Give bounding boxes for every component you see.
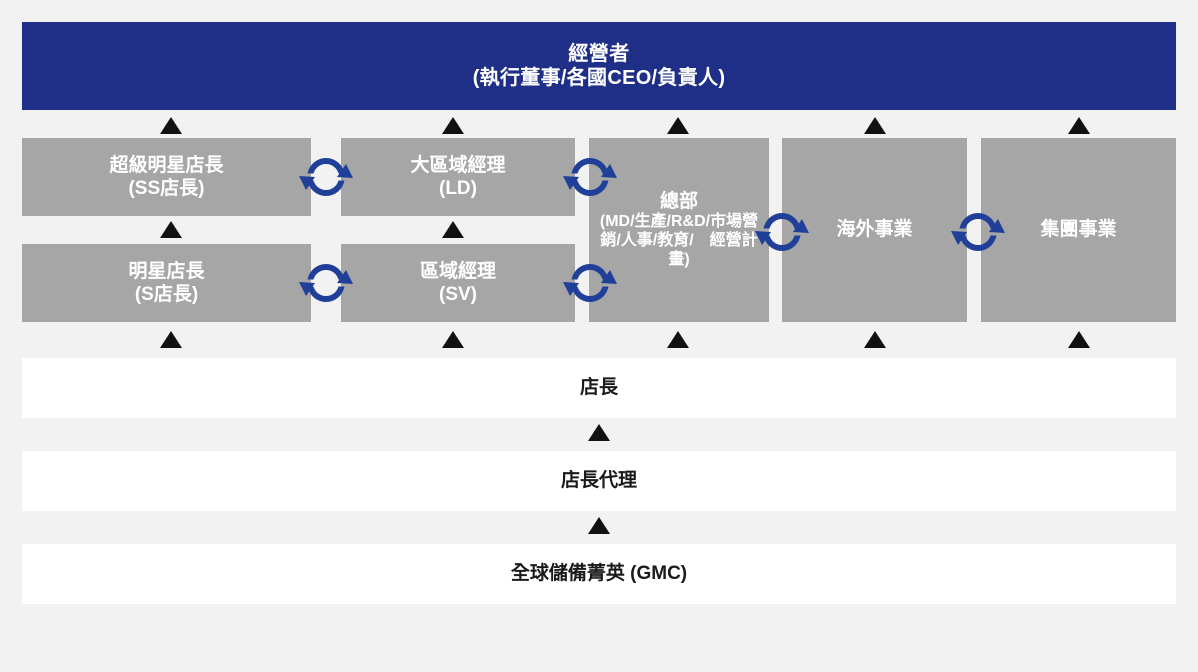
executive-title: 經營者 <box>568 42 630 66</box>
cycle-arrows-icon-hq-overseas[interactable] <box>755 205 809 259</box>
cycle-arrows-icon-overseas-group[interactable] <box>951 205 1005 259</box>
role-title-headquarters: 總部 <box>660 190 698 213</box>
role-code-ss-store-manager: (SS店長) <box>128 177 204 200</box>
up-triangle-icon-gmc-to-deputy <box>588 517 610 534</box>
role-code-district-manager: (SV) <box>439 283 477 306</box>
base-row-deputy-store-manager[interactable]: 店長代理 <box>22 451 1176 511</box>
role-box-s-store-manager[interactable]: 明星店長 (S店長) <box>22 244 311 322</box>
role-title-group-business: 集團事業 <box>1040 218 1116 241</box>
cycle-arrows-icon-ss-ld[interactable] <box>299 150 353 204</box>
base-row-label-deputy-store-manager: 店長代理 <box>561 469 637 492</box>
role-box-district-manager[interactable]: 區域經理 (SV) <box>341 244 575 322</box>
role-box-ss-store-manager[interactable]: 超級明星店長 (SS店長) <box>22 138 311 216</box>
role-title-large-district-manager: 大區域經理 <box>410 154 505 177</box>
up-triangle-icon-store-to-sv <box>442 331 464 348</box>
role-box-large-district-manager[interactable]: 大區域經理 (LD) <box>341 138 575 216</box>
role-title-overseas-business: 海外事業 <box>836 218 912 241</box>
up-triangle-icon-exec-to-ld <box>442 117 464 134</box>
base-row-store-manager[interactable]: 店長 <box>22 358 1176 418</box>
up-triangle-icon-exec-to-ss <box>160 117 182 134</box>
up-triangle-icon-deputy-to-store <box>588 424 610 441</box>
up-triangle-icon-store-to-hq <box>667 331 689 348</box>
up-triangle-icon-exec-to-hq <box>667 117 689 134</box>
org-chart-diagram: 經營者 (執行董事/各國CEO/負責人) 超級明星店長 (SS店長) 大區域經理… <box>0 0 1198 672</box>
cycle-arrows-icon-ld-hq[interactable] <box>563 150 617 204</box>
up-triangle-icon-s-to-ss <box>160 221 182 238</box>
up-triangle-icon-sv-to-ld <box>442 221 464 238</box>
role-code-large-district-manager: (LD) <box>439 177 477 200</box>
executive-subtitle: (執行董事/各國CEO/負責人) <box>473 66 726 90</box>
base-row-label-global-management-candidate: 全球儲備菁英 (GMC) <box>511 562 687 585</box>
executive-banner[interactable]: 經營者 (執行董事/各國CEO/負責人) <box>22 22 1176 110</box>
up-triangle-icon-exec-to-group <box>1068 117 1090 134</box>
cycle-arrows-icon-s-sv[interactable] <box>299 256 353 310</box>
role-title-ss-store-manager: 超級明星店長 <box>109 154 223 177</box>
cycle-arrows-icon-sv-hq[interactable] <box>563 256 617 310</box>
base-row-label-store-manager: 店長 <box>580 376 618 399</box>
role-box-group-business[interactable]: 集團事業 <box>981 138 1176 322</box>
up-triangle-icon-exec-to-overseas <box>864 117 886 134</box>
up-triangle-icon-store-to-overseas <box>864 331 886 348</box>
role-title-s-store-manager: 明星店長 <box>128 260 204 283</box>
role-box-overseas-business[interactable]: 海外事業 <box>782 138 967 322</box>
up-triangle-icon-store-to-group <box>1068 331 1090 348</box>
up-triangle-icon-store-to-s <box>160 331 182 348</box>
role-title-district-manager: 區域經理 <box>420 260 496 283</box>
role-code-s-store-manager: (S店長) <box>135 283 198 306</box>
base-row-global-management-candidate[interactable]: 全球儲備菁英 (GMC) <box>22 544 1176 604</box>
